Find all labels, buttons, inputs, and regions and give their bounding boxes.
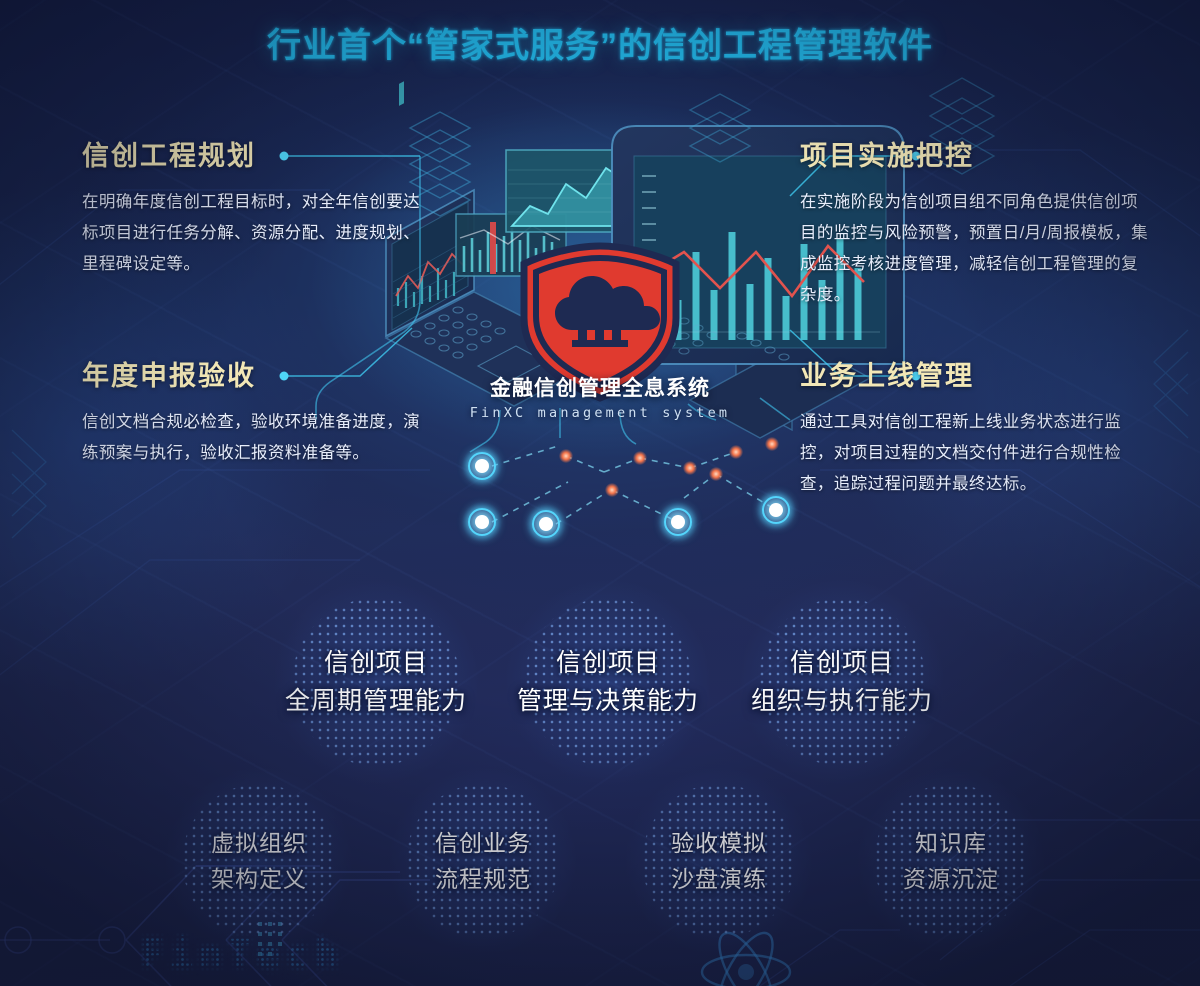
infographic-stage: 行业首个“管家式服务”的信创工程管理软件 信创工程规划 在明确年度信创工程目标时…: [0, 0, 1200, 986]
background-vignette: [0, 0, 1200, 986]
